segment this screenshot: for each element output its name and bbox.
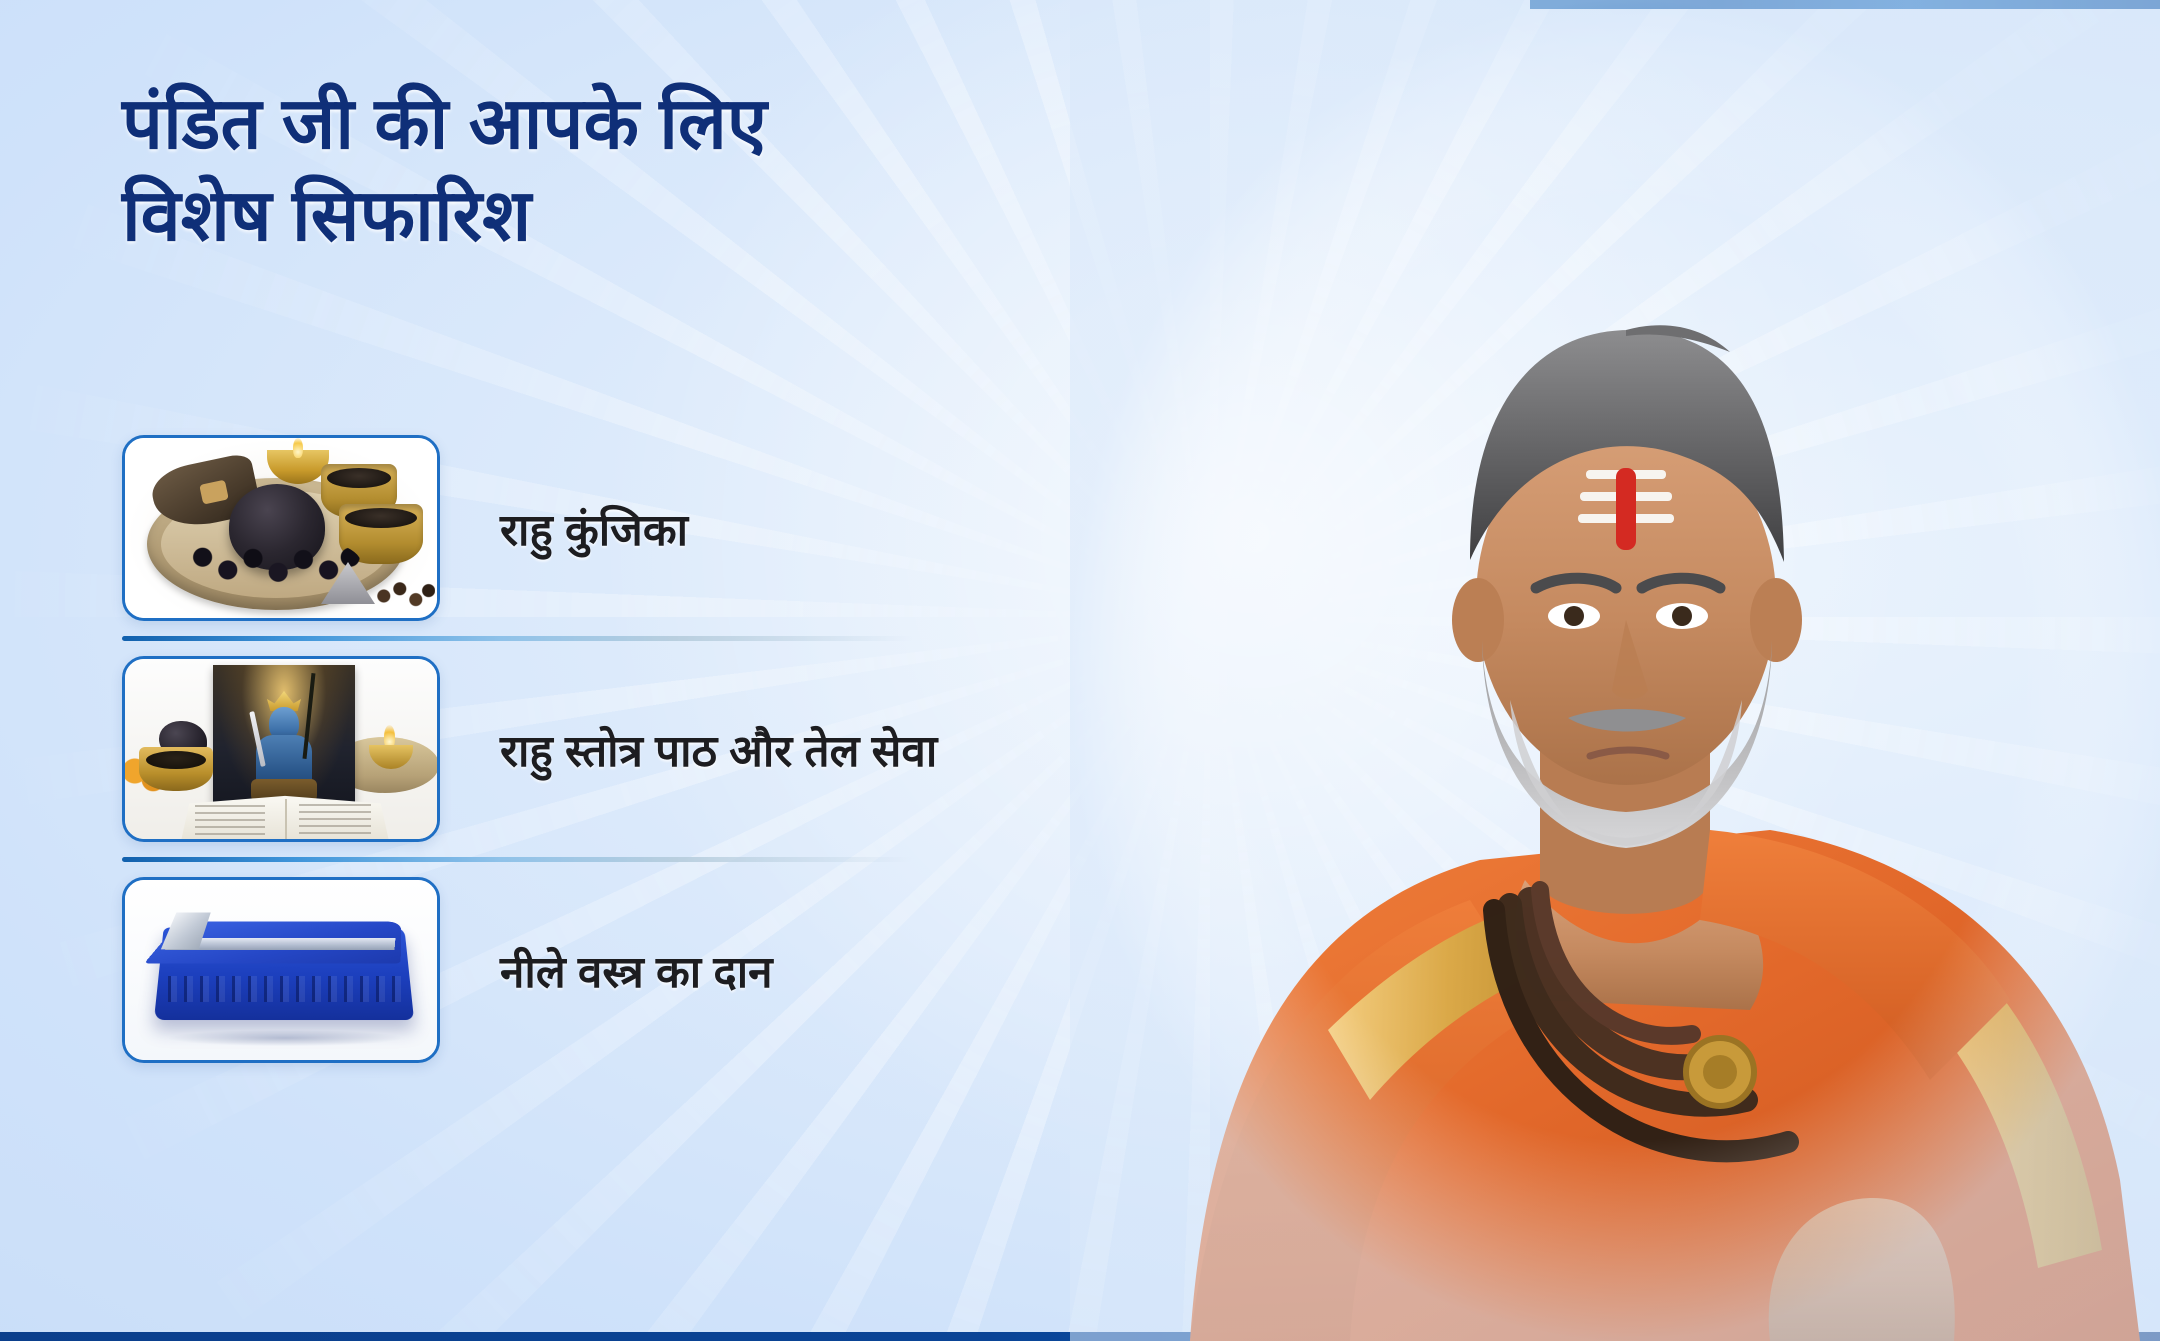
recommendation-label-1: राहु कुंजिका	[500, 498, 688, 558]
list-item[interactable]: राहु स्तोत्र पाठ और तेल सेवा	[122, 641, 1022, 857]
left-content: पंडित जी की आपके लिए विशेष सिफारिश	[0, 0, 1180, 1341]
pandit-ji-figure	[1080, 0, 2160, 1341]
rahu-idol-icon	[125, 659, 437, 839]
pandit-ji-illustration	[1070, 0, 2160, 1341]
banner-canvas: पंडित जी की आपके लिए विशेष सिफारिश	[0, 0, 2160, 1341]
recommendations-list: राहु कुंजिका	[122, 420, 1022, 1078]
page-title-line-2: विशेष सिफारिश	[122, 170, 1122, 262]
recommendation-thumbnail-3[interactable]	[122, 877, 440, 1063]
recommendation-label-3: नीले वस्त्र का दान	[500, 940, 773, 1000]
blue-cloth-icon	[125, 880, 437, 1060]
recommendation-thumbnail-1[interactable]	[122, 435, 440, 621]
list-item[interactable]: राहु कुंजिका	[122, 420, 1022, 636]
page-title: पंडित जी की आपके लिए विशेष सिफारिश	[122, 78, 1122, 262]
recommendation-thumbnail-2[interactable]	[122, 656, 440, 842]
page-title-line-1: पंडित जी की आपके लिए	[122, 84, 767, 164]
recommendation-label-2: राहु स्तोत्र पाठ और तेल सेवा	[500, 719, 937, 779]
list-item[interactable]: नीले वस्त्र का दान	[122, 862, 1022, 1078]
puja-thali-icon	[125, 438, 437, 618]
